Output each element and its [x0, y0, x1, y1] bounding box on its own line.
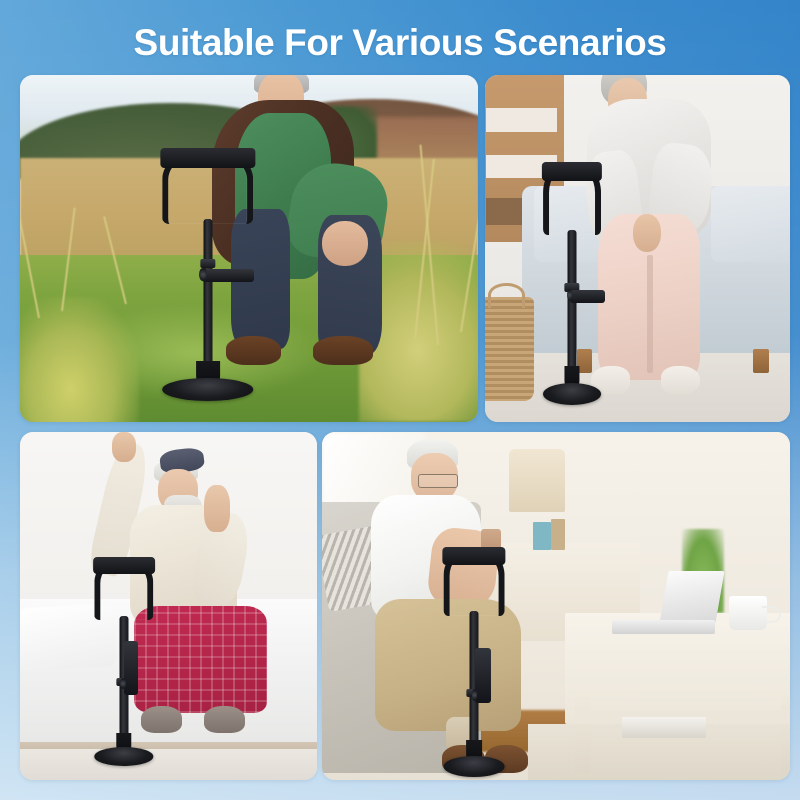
cane-grip-pad — [93, 557, 155, 574]
basket-handle — [488, 283, 525, 307]
clasped-hands — [322, 221, 368, 266]
page-title: Suitable For Various Scenarios — [134, 24, 667, 61]
scene-bedroom — [20, 432, 317, 780]
cane-support-arm — [570, 290, 606, 302]
sofa-leg — [753, 349, 768, 373]
hand-at-mouth — [204, 485, 230, 532]
cane-support-arm — [124, 641, 138, 695]
cane-telescoping-shaft — [567, 230, 576, 381]
cane-round-base — [162, 378, 254, 401]
scenario-panel-living-room-knee[interactable] — [485, 75, 790, 422]
scenario-panel-couch-phone[interactable] — [322, 432, 790, 780]
cane-support-arm — [475, 648, 491, 703]
hand-on-knee — [633, 214, 661, 252]
page-title-container: Suitable For Various Scenarios — [0, 16, 800, 68]
stand-assist-cane — [543, 162, 601, 405]
scenario-panel-outdoor-field[interactable] — [20, 75, 478, 422]
laptop-screen — [659, 571, 724, 623]
cane-arm-pivot — [199, 268, 207, 281]
trouser-seam — [647, 255, 652, 373]
slipper-right — [204, 706, 245, 733]
table-leg — [781, 696, 790, 773]
scenario-panel-bedroom-wakeup[interactable] — [20, 432, 317, 780]
scene-living-room-couch — [322, 432, 790, 780]
cane-telescoping-shaft — [203, 219, 212, 376]
scene-outdoor-field — [20, 75, 478, 422]
shelf-slot — [486, 108, 558, 131]
stand-assist-cane — [162, 148, 254, 401]
table-leg — [575, 696, 591, 773]
cane-arm-pivot — [472, 689, 477, 700]
cane-grip-pad — [442, 547, 505, 565]
cane-round-base — [444, 756, 505, 777]
eyeglasses — [418, 474, 457, 488]
cane-round-base — [543, 383, 601, 405]
scene-living-room-knee — [485, 75, 790, 422]
red-plaid-pyjama-trousers — [134, 606, 267, 713]
stand-assist-cane — [444, 547, 505, 777]
shoe-right — [313, 336, 373, 365]
cane-grip-pad — [160, 148, 255, 168]
cane-arm-pivot — [120, 678, 125, 688]
fist — [112, 432, 136, 462]
scenario-poster: Suitable For Various Scenarios — [0, 0, 800, 800]
cane-round-base — [94, 747, 153, 766]
slipper-right — [661, 366, 700, 394]
person-woman-bending — [577, 75, 754, 408]
wicker-basket — [485, 297, 534, 401]
cane-grip-pad — [542, 162, 602, 181]
cane-support-arm — [202, 269, 253, 282]
laptop-keyboard — [612, 620, 715, 634]
mug-handle — [762, 606, 781, 623]
cane-height-collar — [200, 259, 215, 268]
stacked-books — [622, 717, 706, 738]
coffee-mug — [729, 596, 766, 631]
stand-assist-cane — [94, 557, 153, 766]
